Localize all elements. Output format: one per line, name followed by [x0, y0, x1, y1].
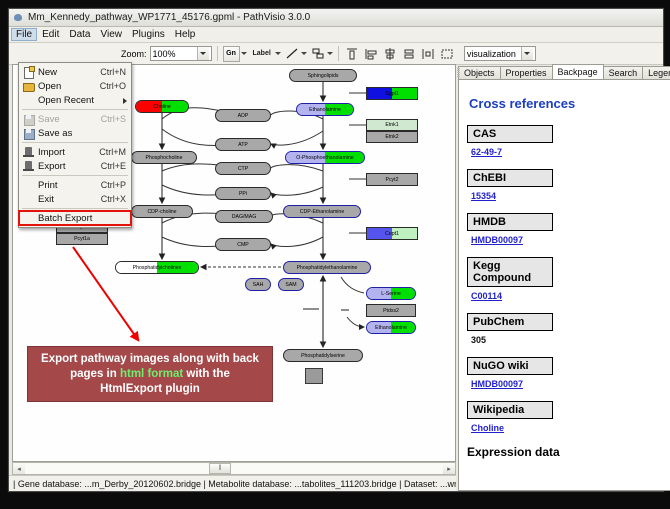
save-disk-icon	[21, 113, 36, 126]
metabolite-node-phosphatidylserine[interactable]: Phosphatidylserine	[283, 349, 363, 362]
node-label: Pcyt1a	[74, 236, 90, 242]
import-icon	[21, 146, 36, 159]
metabolite-node-phosphocholine[interactable]: Phosphocholine	[131, 151, 197, 164]
metabolite-node-choline[interactable]: Choline	[135, 100, 189, 113]
menu-item-new[interactable]: NewCtrl+N	[19, 65, 131, 79]
tab-objects[interactable]: Objects	[458, 66, 501, 79]
node-label: Phosphatidylserine	[301, 353, 345, 359]
chevron-down-icon[interactable]	[521, 47, 533, 60]
callout-line-1: Export pathway images along with back	[41, 352, 259, 367]
zoom-label: Zoom:	[121, 49, 147, 59]
menu-item-open[interactable]: OpenCtrl+O	[19, 79, 131, 93]
no-icon	[21, 193, 36, 206]
scrollbar-track[interactable]: ‖	[25, 463, 443, 474]
menu-view[interactable]: View	[95, 28, 127, 41]
menu-item-shortcut: Ctrl+N	[100, 67, 129, 77]
pathvisio-app-icon	[13, 12, 24, 23]
xref-title-wikipedia: Wikipedia	[467, 401, 553, 419]
xref-link[interactable]: 62-49-7	[471, 147, 502, 157]
menu-item-shortcut: Ctrl+X	[101, 194, 129, 204]
scrollbar-thumb[interactable]: ‖	[209, 463, 231, 474]
group-icon[interactable]	[439, 46, 455, 62]
menu-item-label: Open Recent	[38, 95, 126, 106]
menu-help[interactable]: Help	[170, 28, 201, 41]
anchor-shape-icon[interactable]	[310, 46, 326, 62]
menu-item-label: Save as	[38, 128, 126, 139]
export-icon	[21, 160, 36, 173]
xref-title-hmdb: HMDB	[467, 213, 553, 231]
menu-item-shortcut: Ctrl+S	[101, 114, 129, 124]
canvas-horizontal-scrollbar[interactable]: ◂ ‖ ▸	[12, 462, 456, 475]
callout-line-2-pre: pages in	[70, 368, 120, 380]
menu-item-label: Export	[38, 161, 101, 172]
menu-item-save-as[interactable]: Save as	[19, 126, 131, 140]
menu-item-exit[interactable]: ExitCtrl+X	[19, 192, 131, 206]
xref-title-chebi: ChEBI	[467, 169, 553, 187]
line-icon[interactable]	[284, 46, 300, 62]
xref-link[interactable]: HMDB00097	[471, 235, 523, 245]
node-label: PPi	[239, 191, 247, 197]
gene-node-cept1[interactable]: Cept1	[366, 227, 418, 240]
menu-edit[interactable]: Edit	[37, 28, 64, 41]
metabolite-node-cdp-choline[interactable]: CDP-choline	[131, 205, 193, 218]
metabolite-node-ppi[interactable]: PPi	[215, 187, 271, 200]
node-label: Sgpl1	[385, 91, 398, 97]
node-label: CDP-choline	[147, 209, 176, 215]
menu-item-export[interactable]: ExportCtrl+E	[19, 159, 131, 173]
menu-item-shortcut: Ctrl+M	[99, 147, 129, 157]
cross-reference-list: CAS62-49-7ChEBI15354HMDBHMDB00097Kegg Co…	[467, 125, 670, 433]
line-tool[interactable]	[284, 46, 307, 62]
menu-item-batch-export[interactable]: Batch Export	[19, 211, 131, 225]
menu-item-shortcut: Ctrl+O	[100, 81, 129, 91]
gene-node-pcyt1a[interactable]: Pcyt1a	[56, 233, 108, 245]
menu-item-label: Batch Export	[38, 213, 126, 224]
no-icon	[21, 212, 36, 225]
metabolite-node-o-phosphoethanolamine[interactable]: O-Phosphoethanolamine	[285, 151, 365, 164]
node-label: O-Phosphoethanolamine	[296, 155, 353, 161]
xref-value-hmdb[interactable]: HMDB00097	[471, 235, 670, 245]
xref-link[interactable]: Choline	[471, 423, 504, 433]
distribute-icon[interactable]	[420, 46, 436, 62]
tab-search[interactable]: Search	[603, 66, 644, 79]
zoom-combo[interactable]: 100%	[150, 46, 212, 61]
menu-separator	[22, 208, 128, 209]
status-bar: | Gene database: ...m_Derby_20120602.bri…	[9, 475, 456, 491]
gene-node-etnk1[interactable]: Etnk1	[366, 119, 418, 131]
xref-value-nugo-wiki[interactable]: HMDB00097	[471, 379, 670, 389]
toolbar-separator	[338, 46, 339, 61]
metabolite-node-phosphatidylethanolamine[interactable]: Phosphatidylethanolamine	[283, 261, 371, 274]
metabolite-node-adp[interactable]: ADP	[215, 109, 271, 122]
node-label: CTP	[238, 166, 248, 172]
node-label: SAM	[285, 282, 296, 288]
node-label: DAG/MAG	[232, 214, 257, 220]
file-menu-dropdown[interactable]: NewCtrl+NOpenCtrl+OOpen RecentSaveCtrl+S…	[18, 62, 132, 228]
metabolite-node-cmp[interactable]: CMP	[215, 238, 271, 251]
align-top-icon[interactable]	[344, 46, 360, 62]
menu-item-shortcut: Ctrl+E	[101, 161, 129, 171]
xref-value-cas[interactable]: 62-49-7	[471, 147, 670, 157]
metabolite-node-l-serine[interactable]: L-Serine	[366, 287, 416, 300]
datanode-tool[interactable]: Gn	[223, 46, 247, 62]
menu-plugins[interactable]: Plugins	[127, 28, 170, 41]
xref-value-wikipedia[interactable]: Choline	[471, 423, 670, 433]
label-tool[interactable]: Label	[250, 45, 281, 63]
scroll-left-arrow-icon[interactable]: ◂	[13, 463, 25, 474]
node-label: L-Serine	[381, 291, 401, 297]
no-icon	[21, 94, 36, 107]
menu-separator	[22, 109, 128, 110]
chevron-down-icon[interactable]	[241, 52, 247, 55]
node-label: Phosphatidylethanolamine	[297, 265, 358, 271]
chevron-down-icon[interactable]	[327, 52, 333, 55]
gene-node-pcyt2[interactable]: Pcyt2	[366, 173, 418, 186]
callout-line-3: HtmlExport plugin	[41, 382, 259, 397]
metabolite-node-ctp[interactable]: CTP	[215, 162, 271, 175]
metabolite-node-atp[interactable]: ATP	[215, 138, 271, 151]
chevron-down-icon[interactable]	[275, 52, 281, 55]
datanode-icon[interactable]: Gn	[223, 46, 240, 62]
node-label: Choline	[153, 104, 171, 110]
xref-value-kegg-compound[interactable]: C00114	[471, 291, 670, 301]
node-label: Pcyt2	[386, 177, 399, 183]
node-label: CDP-Ethanolamine	[300, 209, 344, 215]
node-label: Phosphocholine	[146, 155, 183, 161]
xref-title-pubchem: PubChem	[467, 313, 553, 331]
metabolite-node-sah[interactable]: SAH	[245, 278, 271, 291]
screenshot-root: Mm_Kennedy_pathway_WP1771_45176.gpml - P…	[0, 0, 670, 509]
node-label: Ethanolamine	[375, 325, 407, 331]
tab-properties[interactable]: Properties	[500, 66, 553, 79]
metabolite-node-phosphatidylcholines[interactable]: Phosphatidylcholines	[115, 261, 199, 274]
xref-value-pubchem: 305	[471, 335, 670, 345]
gene-node-sgpl1[interactable]: Sgpl1	[366, 87, 418, 100]
menu-item-label: Import	[38, 147, 99, 158]
zoom-value: 100%	[153, 49, 197, 59]
shape-tool[interactable]	[310, 46, 333, 62]
xref-title-kegg-compound: Kegg Compound	[467, 257, 553, 287]
menu-separator	[22, 175, 128, 176]
expression-data-heading: Expression data	[467, 445, 670, 459]
xref-link[interactable]: HMDB00097	[471, 379, 523, 389]
side-panel-tabs: Objects Properties Backpage Search Legen…	[458, 64, 670, 79]
node-label: Etnk2	[385, 134, 398, 140]
tab-backpage[interactable]: Backpage	[552, 64, 604, 79]
menu-item-label: New	[38, 67, 100, 78]
callout-line-2-post: with the	[183, 368, 230, 380]
node-label: Cept1	[385, 231, 399, 237]
menu-separator	[22, 142, 128, 143]
metabolite-node-dag-mag[interactable]: DAG/MAG	[215, 210, 273, 223]
xref-value-chebi[interactable]: 15354	[471, 191, 670, 201]
node-label: ATP	[238, 142, 248, 148]
node-label: Sphingolipids	[308, 73, 339, 79]
annotation-callout: Export pathway images along with back pa…	[27, 346, 273, 402]
visualization-value: visualization	[467, 49, 521, 59]
callout-line-2-highlight: html format	[120, 368, 183, 380]
xref-title-cas: CAS	[467, 125, 553, 143]
xref-title-nugo-wiki: NuGO wiki	[467, 357, 553, 375]
backpage-panel: Cross references CAS62-49-7ChEBI15354HMD…	[458, 79, 670, 491]
menu-item-label: Open	[38, 81, 100, 92]
menu-item-label: Save	[38, 114, 101, 125]
node-label: ADP	[238, 113, 249, 119]
metabolite-node-ethanolamine[interactable]: Ethanolamine	[296, 103, 354, 116]
cross-references-heading: Cross references	[469, 96, 670, 111]
gene-node-etnk2[interactable]: Etnk2	[366, 131, 418, 143]
chevron-down-icon[interactable]	[301, 52, 307, 55]
node-label: CMP	[237, 242, 249, 248]
menu-item-label: Exit	[38, 194, 101, 205]
metabolite-node-sphingolipids[interactable]: Sphingolipids	[289, 69, 357, 82]
metabolite-node-cdp-ethanolamine[interactable]: CDP-Ethanolamine	[283, 205, 361, 218]
node-label: Ethanolamine	[309, 107, 341, 113]
xref-link[interactable]: 15354	[471, 191, 496, 201]
menu-file[interactable]: File	[11, 28, 37, 41]
menu-data[interactable]: Data	[64, 28, 95, 41]
menu-item-label: Print	[38, 180, 101, 191]
title-bar: Mm_Kennedy_pathway_WP1771_45176.gpml - P…	[9, 9, 663, 27]
align-left-icon[interactable]	[363, 46, 379, 62]
menu-bar: File Edit Data View Plugins Help	[9, 27, 663, 43]
menu-item-save[interactable]: SaveCtrl+S	[19, 112, 131, 126]
menu-item-open-recent[interactable]: Open Recent	[19, 93, 131, 107]
stack-icon[interactable]	[401, 46, 417, 62]
scroll-right-arrow-icon[interactable]: ▸	[443, 463, 455, 474]
menu-item-import[interactable]: ImportCtrl+M	[19, 145, 131, 159]
chevron-down-icon[interactable]	[197, 47, 209, 60]
menu-item-print[interactable]: PrintCtrl+P	[19, 178, 131, 192]
node-label: Etnk1	[385, 122, 398, 128]
visualization-combo[interactable]: visualization	[464, 46, 536, 61]
node-label: SAH	[253, 282, 264, 288]
xref-link[interactable]: C00114	[471, 291, 502, 301]
window-title: Mm_Kennedy_pathway_WP1771_45176.gpml - P…	[28, 12, 310, 23]
label-icon[interactable]: Label	[250, 45, 274, 63]
node-label: Phosphatidylcholines	[133, 265, 182, 271]
align-center-icon[interactable]	[382, 46, 398, 62]
node-label: Ptdss2	[383, 308, 399, 314]
open-folder-icon	[21, 80, 36, 93]
tab-legend[interactable]: Legend	[642, 66, 670, 79]
metabolite-node-ethanolamine[interactable]: Ethanolamine	[366, 321, 416, 334]
toolbar-separator	[217, 46, 218, 61]
new-file-icon	[21, 66, 36, 79]
metabolite-node-sam[interactable]: SAM	[278, 278, 304, 291]
no-icon	[21, 179, 36, 192]
side-panel: Objects Properties Backpage Search Legen…	[456, 62, 670, 491]
menu-item-shortcut: Ctrl+P	[101, 180, 129, 190]
application-window: Mm_Kennedy_pathway_WP1771_45176.gpml - P…	[8, 8, 664, 492]
gene-node-ptdss2[interactable]: Ptdss2	[366, 304, 416, 317]
save-as-icon	[21, 127, 36, 140]
pathway-group-box	[305, 368, 323, 384]
